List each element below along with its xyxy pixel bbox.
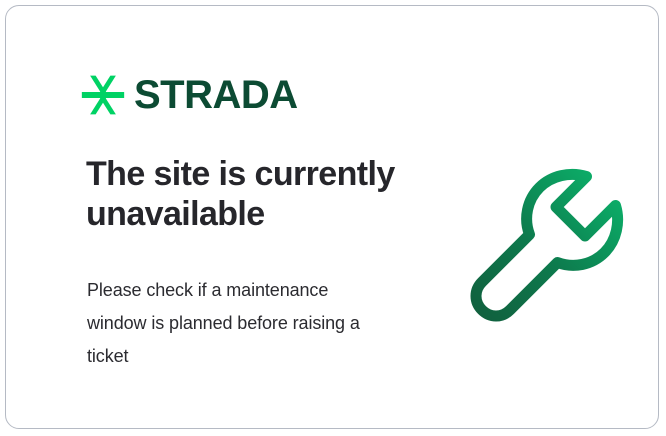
wrench-icon	[458, 154, 624, 322]
error-page: STRADA The site is currently unavailable…	[0, 0, 666, 436]
brand-logo: STRADA	[80, 72, 298, 118]
status-card: STRADA The site is currently unavailable…	[5, 5, 659, 429]
brand-wordmark: STRADA	[134, 75, 298, 115]
page-title: The site is currently unavailable	[86, 154, 416, 234]
strada-asterisk-icon	[80, 72, 126, 118]
page-description: Please check if a maintenance window is …	[87, 274, 387, 373]
